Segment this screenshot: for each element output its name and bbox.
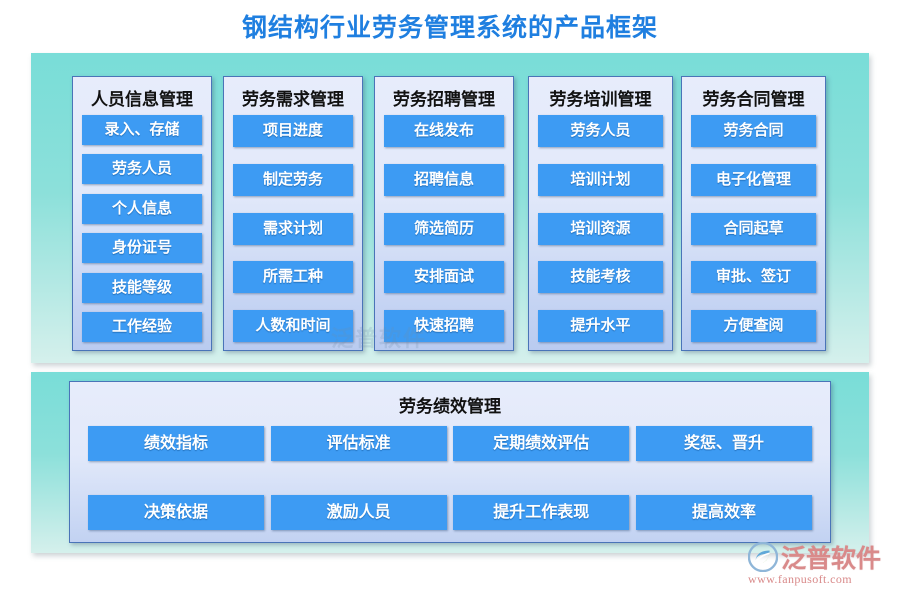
module-item-list: 劳务人员 培训计划 培训资源 技能考核 提升水平	[538, 115, 663, 342]
module-item[interactable]: 人数和时间	[233, 310, 353, 342]
performance-row: 决策依据 激励人员 提升工作表现 提高效率	[88, 495, 812, 530]
module-item-list: 项目进度 制定劳务 需求计划 所需工种 人数和时间	[233, 115, 353, 342]
module-item[interactable]: 方便查阅	[691, 310, 816, 342]
diagram-canvas: 钢结构行业劳务管理系统的产品框架 人员信息管理 录入、存储 劳务人员 个人信息 …	[0, 0, 900, 600]
performance-row: 绩效指标 评估标准 定期绩效评估 奖惩、晋升	[88, 426, 812, 461]
module-item[interactable]: 招聘信息	[384, 164, 504, 196]
module-item[interactable]: 录入、存储	[82, 115, 202, 145]
module-item[interactable]: 安排面试	[384, 261, 504, 293]
module-item[interactable]: 审批、签订	[691, 261, 816, 293]
performance-item[interactable]: 定期绩效评估	[453, 426, 629, 461]
module-item[interactable]: 劳务人员	[82, 154, 202, 184]
module-item[interactable]: 劳务人员	[538, 115, 663, 147]
performance-item[interactable]: 绩效指标	[88, 426, 264, 461]
module-card-training[interactable]: 劳务培训管理 劳务人员 培训计划 培训资源 技能考核 提升水平	[528, 76, 673, 351]
performance-item[interactable]: 奖惩、晋升	[636, 426, 812, 461]
brand-row: 泛普软件	[748, 540, 898, 574]
performance-card-title: 劳务绩效管理	[70, 392, 830, 417]
performance-item[interactable]: 评估标准	[271, 426, 447, 461]
module-card-personnel-info[interactable]: 人员信息管理 录入、存储 劳务人员 个人信息 身份证号 技能等级 工作经验	[72, 76, 212, 351]
module-item[interactable]: 所需工种	[233, 261, 353, 293]
module-item[interactable]: 筛选简历	[384, 213, 504, 245]
performance-item-grid: 绩效指标 评估标准 定期绩效评估 奖惩、晋升 决策依据 激励人员 提升工作表现 …	[88, 426, 812, 530]
fanpu-leaf-logo-icon	[748, 542, 778, 572]
module-item[interactable]: 技能等级	[82, 273, 202, 303]
page-title: 钢结构行业劳务管理系统的产品框架	[0, 8, 900, 44]
module-item[interactable]: 合同起草	[691, 213, 816, 245]
performance-item[interactable]: 提高效率	[636, 495, 812, 530]
module-item[interactable]: 劳务合同	[691, 115, 816, 147]
performance-item[interactable]: 决策依据	[88, 495, 264, 530]
module-item-list: 录入、存储 劳务人员 个人信息 身份证号 技能等级 工作经验	[82, 115, 202, 342]
module-item[interactable]: 在线发布	[384, 115, 504, 147]
module-item[interactable]: 电子化管理	[691, 164, 816, 196]
module-item[interactable]: 工作经验	[82, 312, 202, 342]
module-card-labor-demand[interactable]: 劳务需求管理 项目进度 制定劳务 需求计划 所需工种 人数和时间	[223, 76, 363, 351]
performance-panel: 劳务绩效管理 绩效指标 评估标准 定期绩效评估 奖惩、晋升 决策依据 激励人员 …	[31, 372, 869, 553]
module-card-recruitment[interactable]: 劳务招聘管理 在线发布 招聘信息 筛选简历 安排面试 快速招聘	[374, 76, 514, 351]
module-card-title: 劳务培训管理	[529, 85, 672, 110]
module-card-title: 人员信息管理	[73, 85, 211, 110]
module-item-list: 在线发布 招聘信息 筛选简历 安排面试 快速招聘	[384, 115, 504, 342]
performance-card[interactable]: 劳务绩效管理 绩效指标 评估标准 定期绩效评估 奖惩、晋升 决策依据 激励人员 …	[69, 381, 831, 543]
module-item[interactable]: 需求计划	[233, 213, 353, 245]
module-item[interactable]: 身份证号	[82, 233, 202, 263]
brand-logo: 泛普软件 www.fanpusoft.com	[748, 540, 898, 592]
module-card-title: 劳务合同管理	[682, 85, 825, 110]
module-item[interactable]: 制定劳务	[233, 164, 353, 196]
module-item[interactable]: 提升水平	[538, 310, 663, 342]
module-item[interactable]: 快速招聘	[384, 310, 504, 342]
module-item[interactable]: 培训资源	[538, 213, 663, 245]
module-item-list: 劳务合同 电子化管理 合同起草 审批、签订 方便查阅	[691, 115, 816, 342]
brand-name: 泛普软件	[781, 539, 881, 575]
modules-panel: 人员信息管理 录入、存储 劳务人员 个人信息 身份证号 技能等级 工作经验 劳务…	[31, 53, 869, 363]
performance-item[interactable]: 激励人员	[271, 495, 447, 530]
module-item[interactable]: 技能考核	[538, 261, 663, 293]
module-card-title: 劳务需求管理	[224, 85, 362, 110]
module-card-contract[interactable]: 劳务合同管理 劳务合同 电子化管理 合同起草 审批、签订 方便查阅	[681, 76, 826, 351]
module-item[interactable]: 项目进度	[233, 115, 353, 147]
module-item[interactable]: 个人信息	[82, 194, 202, 224]
module-card-title: 劳务招聘管理	[375, 85, 513, 110]
module-item[interactable]: 培训计划	[538, 164, 663, 196]
performance-item[interactable]: 提升工作表现	[453, 495, 629, 530]
